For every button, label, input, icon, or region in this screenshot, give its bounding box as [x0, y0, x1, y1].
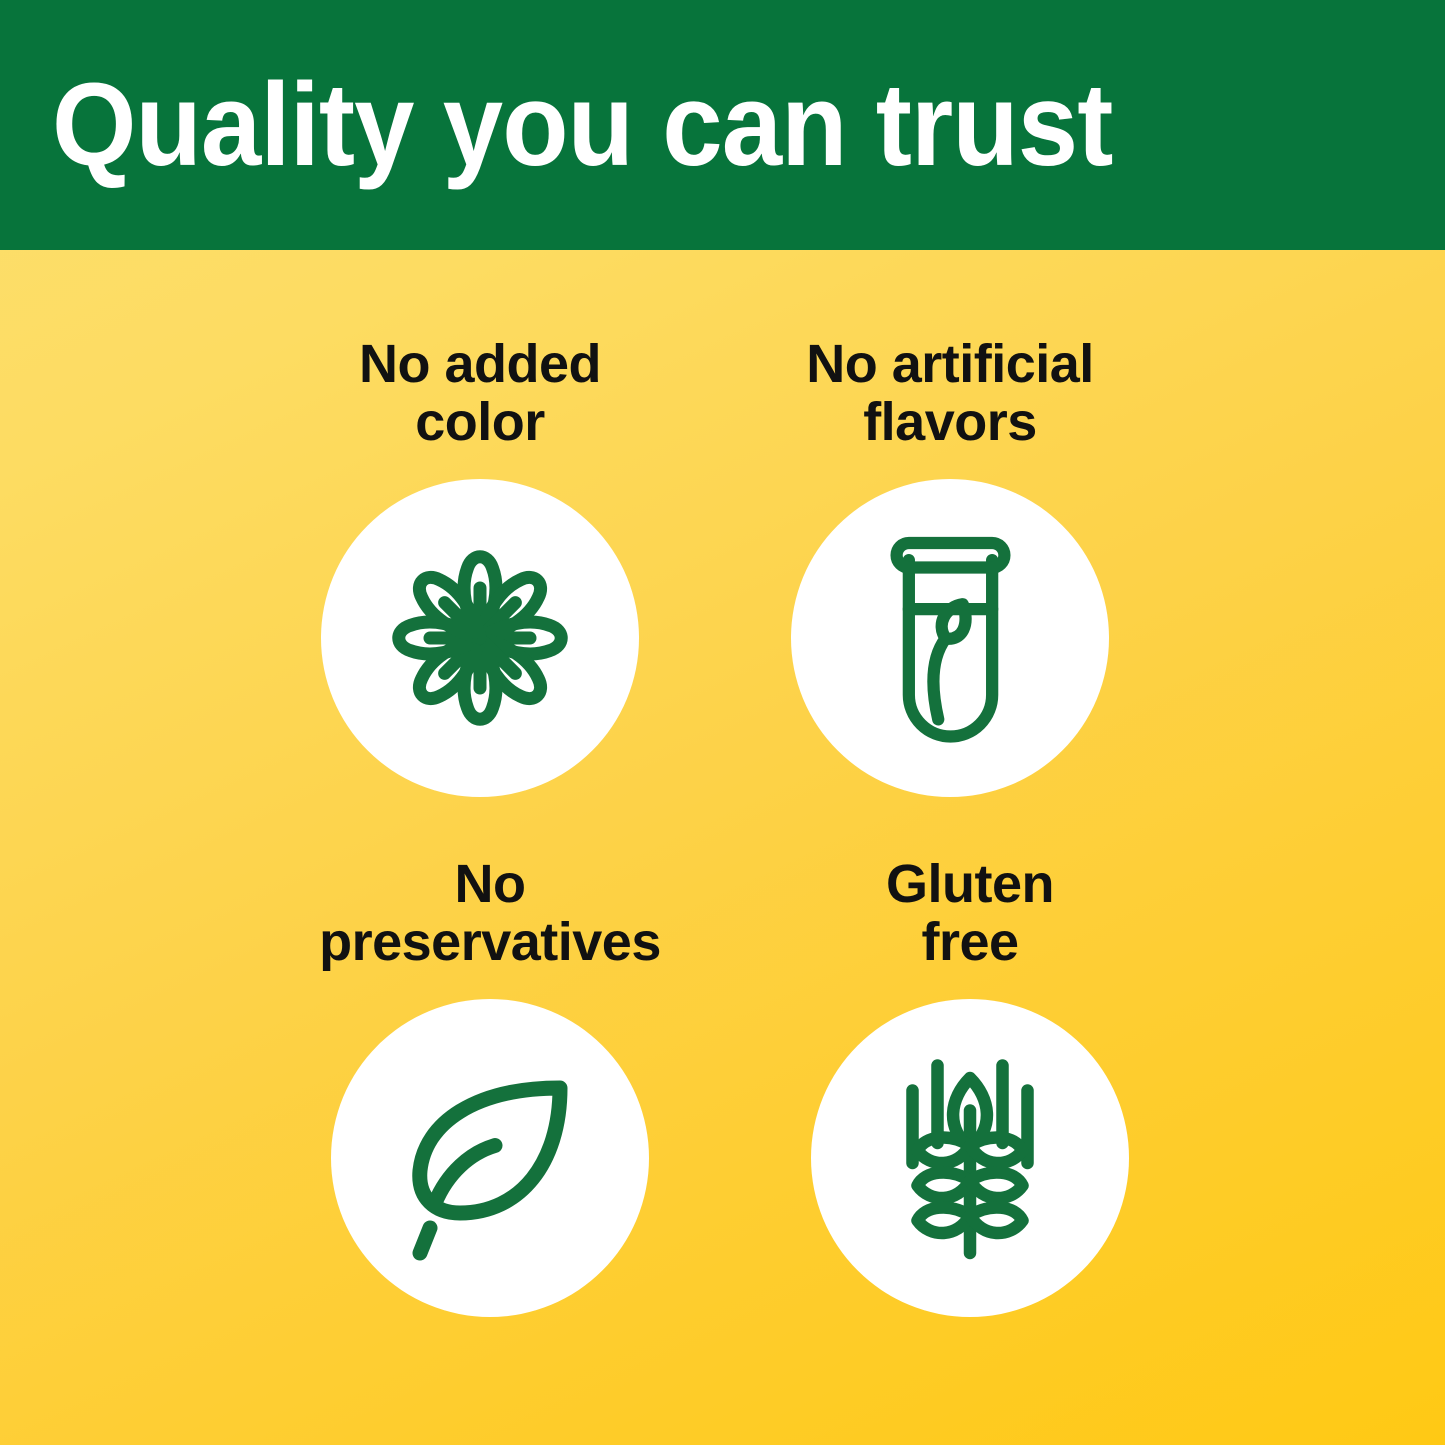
test-tube-leaf-icon — [828, 516, 1073, 761]
feature-label: No artificial flavors — [806, 335, 1094, 453]
page-title: Quality you can trust — [52, 66, 1112, 184]
feature-label: Gluten free — [886, 855, 1054, 973]
leaf-icon — [365, 1033, 615, 1283]
header-banner: Quality you can trust — [0, 0, 1445, 250]
wheat-icon — [845, 1033, 1095, 1283]
feature-grid: No added color — [0, 250, 1445, 1445]
feature-no-artificial-flavors: No artificial flavors — [670, 335, 1230, 797]
quality-badges-panel: Quality you can trust No added color — [0, 0, 1445, 1445]
flower-icon — [355, 513, 605, 763]
icon-disc — [791, 479, 1109, 797]
icon-disc — [331, 999, 649, 1317]
icon-disc — [321, 479, 639, 797]
icon-disc — [811, 999, 1129, 1317]
feature-gluten-free: Gluten free — [690, 855, 1250, 1317]
feature-label: No added color — [359, 335, 601, 453]
feature-no-preservatives: No preservatives — [210, 855, 770, 1317]
feature-label: No preservatives — [319, 855, 661, 973]
